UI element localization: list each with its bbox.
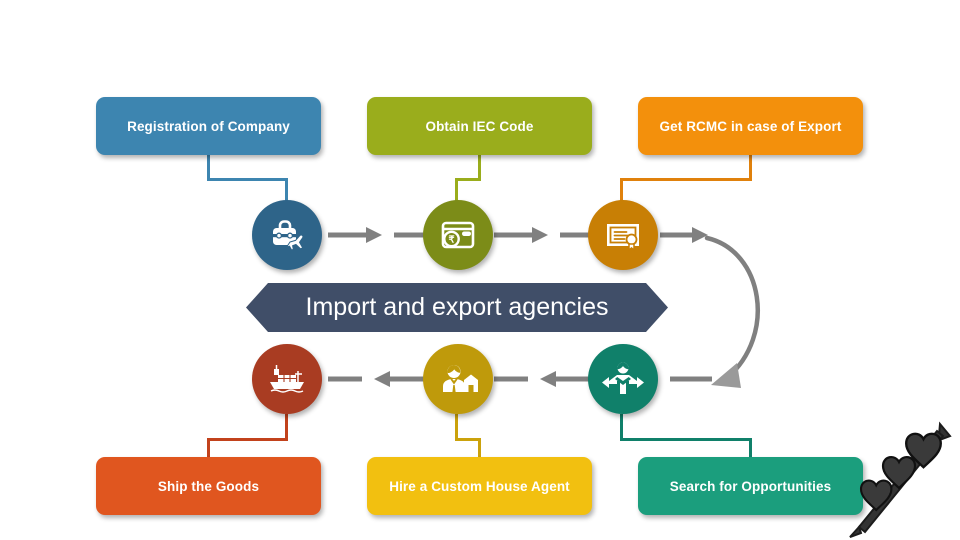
connector-top-1-h xyxy=(207,178,287,181)
connector-bottom-1-h xyxy=(207,438,288,441)
connector-bottom-3-v1 xyxy=(620,414,623,440)
heart-arrow-decoration xyxy=(845,420,960,540)
box-label: Search for Opportunities xyxy=(670,479,831,494)
briefcase-airplane-icon xyxy=(266,214,308,256)
arrow-bottom-3-to-2 xyxy=(494,366,594,392)
cargo-ship-icon xyxy=(265,357,309,401)
process-box-ship-the-goods[interactable]: Ship the Goods xyxy=(96,457,321,515)
step-circle-opportunities[interactable] xyxy=(588,344,658,414)
process-box-search-for-opportunities[interactable]: Search for Opportunities xyxy=(638,457,863,515)
certificate-icon xyxy=(602,214,644,256)
person-branching-arrows-icon xyxy=(601,357,645,401)
arrow-bottom-curve-to-3 xyxy=(660,366,712,392)
svg-text:₹: ₹ xyxy=(448,235,455,246)
connector-top-3-h xyxy=(620,178,752,181)
connector-top-3-v1 xyxy=(749,155,752,180)
center-banner-label: Import and export agencies xyxy=(306,293,609,322)
step-circle-custom-house-agent[interactable] xyxy=(423,344,493,414)
connector-bottom-3-h xyxy=(620,438,752,441)
connector-bottom-2-v1 xyxy=(455,414,458,440)
agent-person-house-icon xyxy=(437,358,479,400)
step-circle-iec-code[interactable]: ₹ xyxy=(423,200,493,270)
step-circle-registration[interactable] xyxy=(252,200,322,270)
connector-bottom-1-v1 xyxy=(285,414,288,440)
connector-top-2-h xyxy=(455,178,481,181)
process-box-hire-custom-house-agent[interactable]: Hire a Custom House Agent xyxy=(367,457,592,515)
arrow-top-1-to-2 xyxy=(328,222,428,248)
center-banner: Import and export agencies xyxy=(246,283,668,332)
wallet-rupee-icon: ₹ xyxy=(437,214,479,256)
step-circle-rcmc[interactable] xyxy=(588,200,658,270)
arrow-bottom-2-to-1 xyxy=(328,366,428,392)
box-label: Get RCMC in case of Export xyxy=(660,119,842,134)
box-label: Hire a Custom House Agent xyxy=(389,479,570,494)
connector-top-1-v1 xyxy=(207,155,210,180)
process-box-obtain-iec-code[interactable]: Obtain IEC Code xyxy=(367,97,592,155)
box-label: Registration of Company xyxy=(127,119,290,134)
diagram-canvas: Registration of Company Obtain IEC Code … xyxy=(0,0,960,540)
connector-top-2-v1 xyxy=(478,155,481,180)
process-box-registration-of-company[interactable]: Registration of Company xyxy=(96,97,321,155)
box-label: Ship the Goods xyxy=(158,479,259,494)
process-box-get-rcmc[interactable]: Get RCMC in case of Export xyxy=(638,97,863,155)
arrow-top-2-to-3 xyxy=(494,222,594,248)
step-circle-ship-goods[interactable] xyxy=(252,344,322,414)
box-label: Obtain IEC Code xyxy=(425,119,533,134)
